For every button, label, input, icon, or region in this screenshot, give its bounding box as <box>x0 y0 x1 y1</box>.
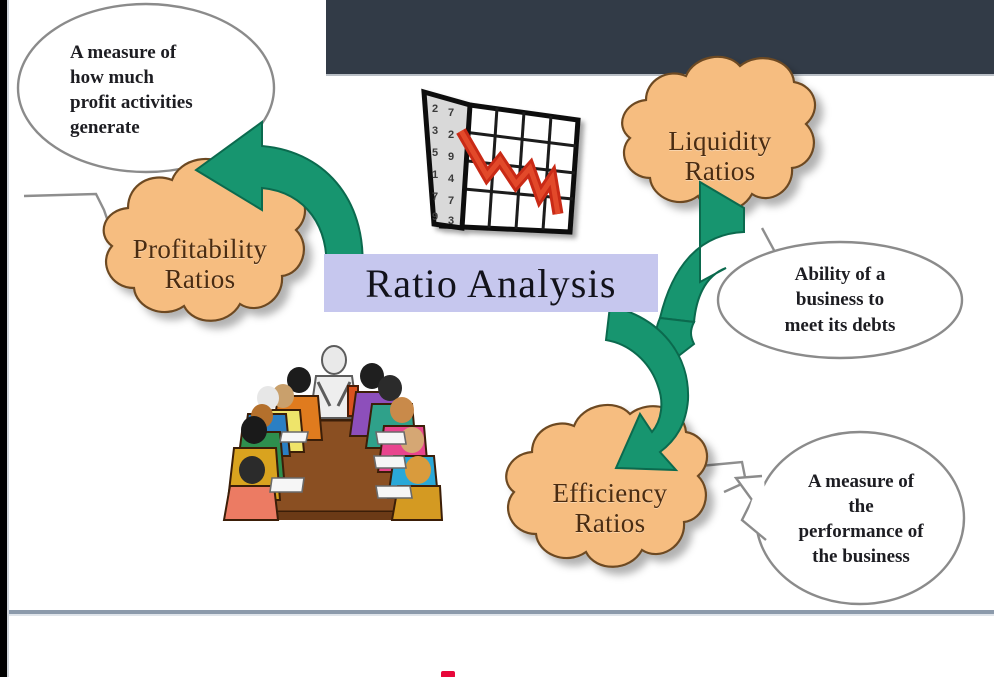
bubble-efficiency-line1: A measure of <box>808 469 914 494</box>
cloud-liquidity-line1: Liquidity <box>668 126 771 156</box>
boardroom-meeting-icon <box>224 346 442 520</box>
bottom-pane <box>9 616 994 677</box>
svg-text:2: 2 <box>432 103 438 115</box>
cloud-profitability-line2: Ratios <box>165 264 236 294</box>
declining-line-chart-icon: 27 32 59 14 77 93 <box>424 92 578 232</box>
bubble-profitability-line1: A measure of <box>70 40 176 65</box>
cloud-label-liquidity[interactable]: Liquidity Ratios <box>618 104 822 208</box>
bubble-efficiency-definition: A measure of the performance of the busi… <box>762 450 960 588</box>
svg-text:7: 7 <box>432 191 438 203</box>
svg-text:9: 9 <box>432 211 438 223</box>
svg-text:5: 5 <box>432 147 438 159</box>
svg-text:3: 3 <box>432 125 438 137</box>
svg-text:1: 1 <box>432 169 438 181</box>
svg-text:7: 7 <box>448 107 454 119</box>
bubble-liquidity-line2: business to <box>796 287 884 312</box>
bubble-liquidity-definition: Ability of a business to meet its debts <box>726 248 954 352</box>
cloud-efficiency-line2: Ratios <box>575 508 646 538</box>
svg-text:3: 3 <box>448 215 454 227</box>
cloud-profitability-line1: Profitability <box>133 234 267 264</box>
bubble-efficiency-line2: the <box>848 494 873 519</box>
bubble-profitability-line3: profit activities <box>70 90 193 115</box>
cloud-efficiency-line1: Efficiency <box>553 478 668 508</box>
cloud-label-efficiency[interactable]: Efficiency Ratios <box>506 456 714 560</box>
bubble-liquidity-line3: meet its debts <box>785 313 896 338</box>
svg-text:9: 9 <box>448 151 454 163</box>
bubble-efficiency-line4: the business <box>812 544 910 569</box>
svg-text:2: 2 <box>448 129 454 141</box>
bubble-profitability-definition: A measure of how much profit activities … <box>18 10 274 170</box>
svg-text:7: 7 <box>448 195 454 207</box>
cloud-label-profitability[interactable]: Profitability Ratios <box>96 210 304 318</box>
bubble-profitability-line2: how much <box>70 65 154 90</box>
cloud-liquidity-line2: Ratios <box>685 156 756 186</box>
bubble-profitability-line4: generate <box>70 115 140 140</box>
slide-canvas: 27 32 59 14 77 93 <box>0 0 994 677</box>
bubble-liquidity-line1: Ability of a <box>795 262 886 287</box>
red-marker[interactable] <box>441 671 455 677</box>
bubble-efficiency-line3: performance of <box>798 519 923 544</box>
page-title: Ratio Analysis <box>324 254 658 312</box>
svg-text:4: 4 <box>448 173 455 185</box>
